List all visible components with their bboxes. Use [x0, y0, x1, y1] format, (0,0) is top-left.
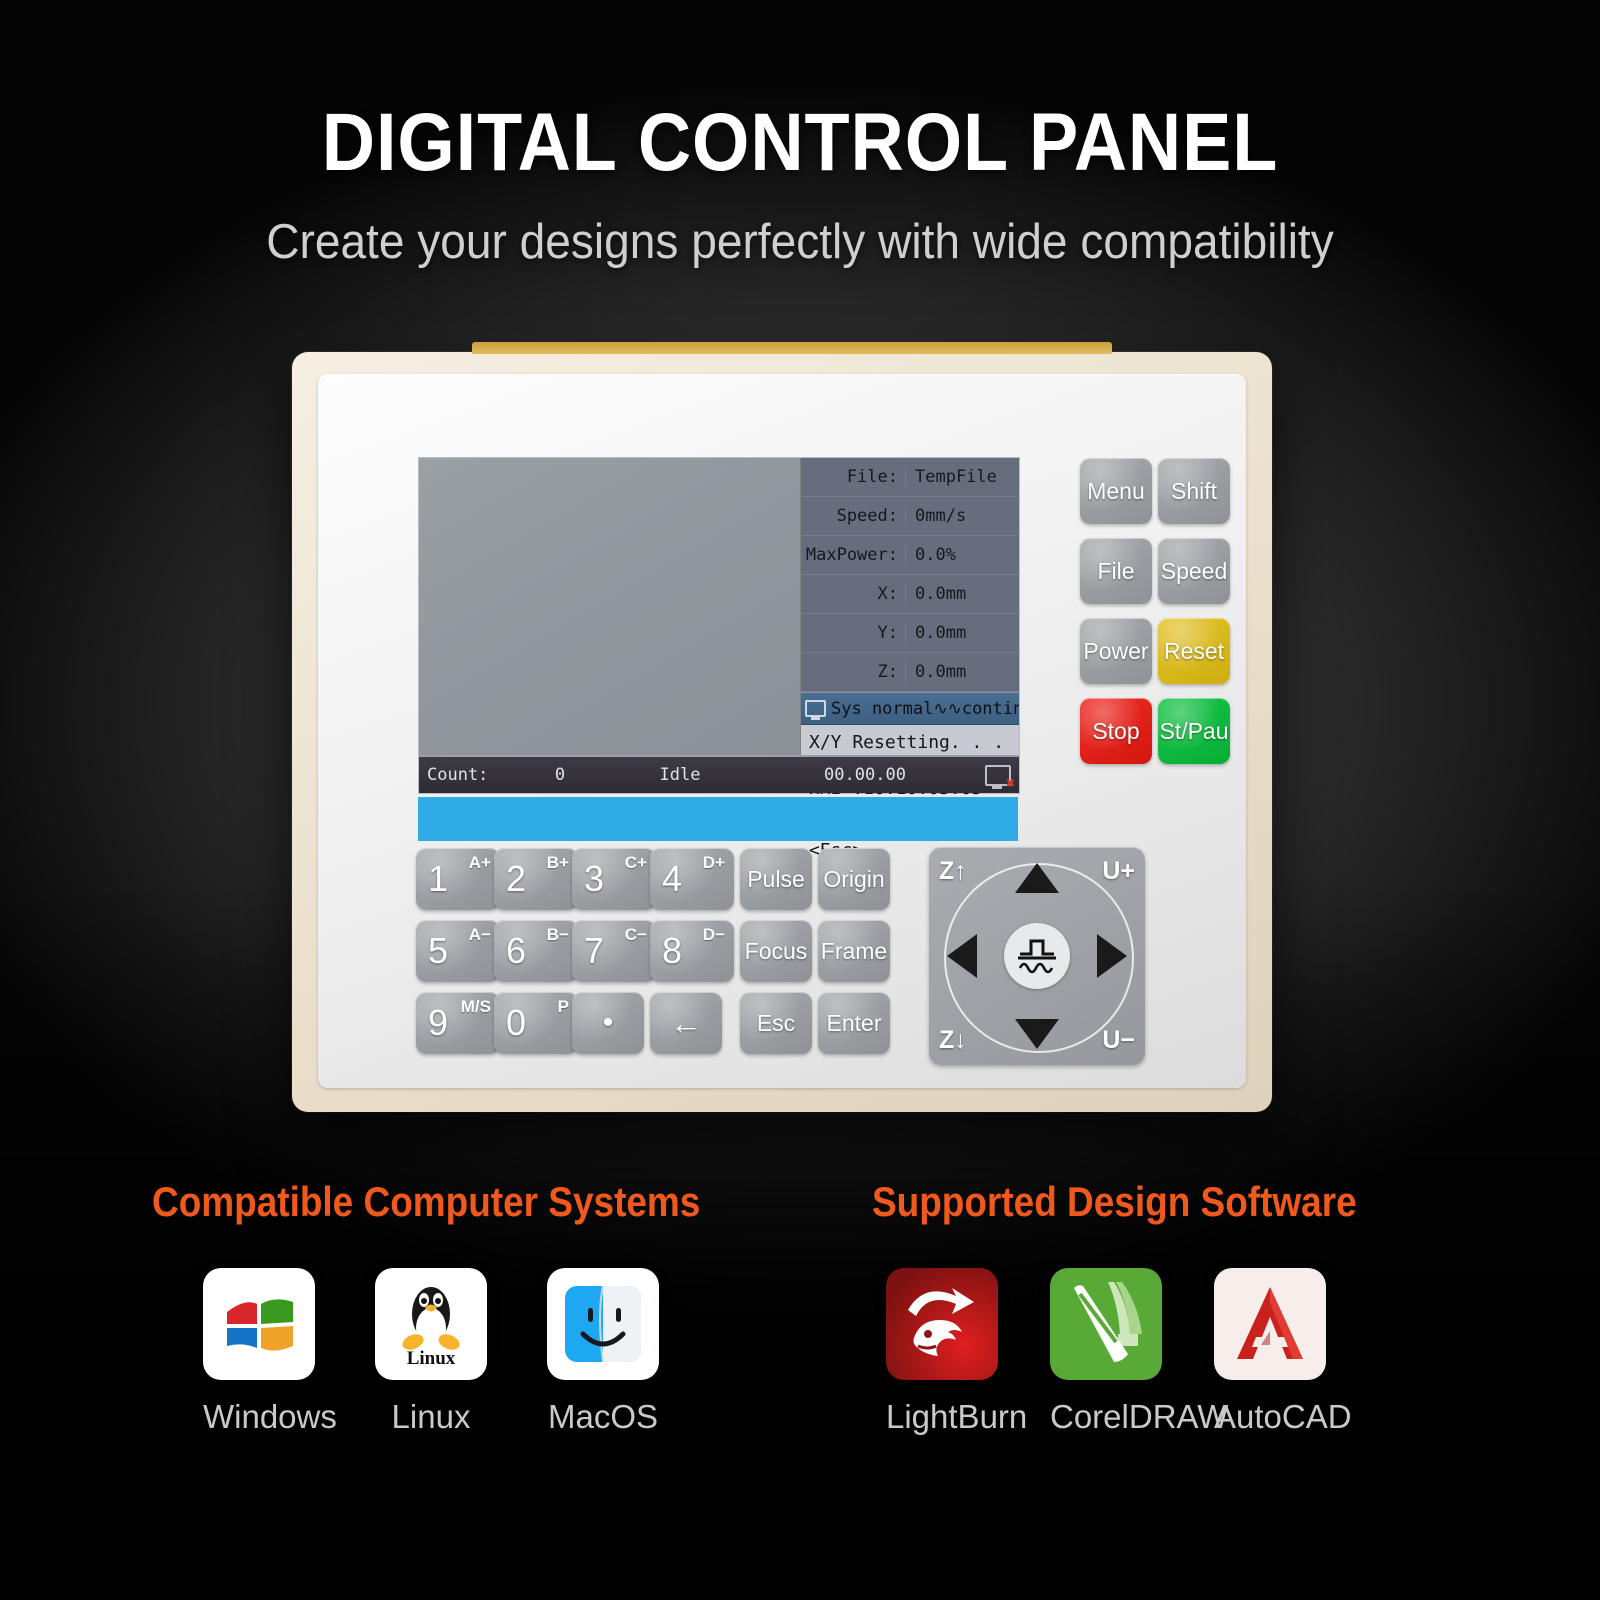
key-shift-label: C−: [625, 925, 647, 945]
elapsed-time: 00.00.00: [745, 765, 985, 785]
key-label: Focus: [745, 938, 808, 965]
pulse-button[interactable]: Pulse: [740, 848, 812, 910]
table-row: MaxPower: 0.0%: [801, 536, 1019, 575]
lcd-status-bar: Count: 0 Idle 00.00.00 ✖: [419, 755, 1019, 793]
info-key: X:: [801, 584, 905, 604]
list-item: Windows: [203, 1268, 315, 1436]
info-value: 0.0mm: [905, 623, 1019, 643]
list-item: AutoCAD: [1214, 1268, 1326, 1436]
table-row: Y: 0.0mm: [801, 614, 1019, 653]
key-label: 0: [506, 1002, 526, 1044]
focus-button[interactable]: Focus: [740, 920, 812, 982]
pulse-center-button[interactable]: [1004, 923, 1070, 989]
key-decimal-point[interactable]: •: [572, 992, 644, 1054]
key-label: 3: [584, 858, 604, 900]
info-value: 0mm/s: [905, 506, 1019, 526]
table-row: Speed: 0mm/s: [801, 497, 1019, 536]
key-label: Speed: [1161, 558, 1228, 585]
frame-button[interactable]: Frame: [818, 920, 890, 982]
key-5[interactable]: 5A−: [416, 920, 500, 982]
info-value: 0.0mm: [905, 662, 1019, 682]
list-item-label: AutoCAD: [1214, 1398, 1326, 1436]
key-label: Origin: [823, 866, 884, 893]
message-line: X/Y Resetting. . .: [809, 731, 1011, 754]
power-button[interactable]: Power: [1080, 618, 1152, 684]
table-row: Z: 0.0mm: [801, 653, 1019, 692]
key-label: Enter: [827, 1010, 882, 1037]
key-label: •: [603, 1006, 614, 1040]
connection-disconnected-icon: ✖: [985, 765, 1011, 786]
info-key: Speed:: [801, 506, 905, 526]
os-logo-list: Windows Linux Linux: [203, 1268, 659, 1436]
key-label: Stop: [1092, 718, 1139, 745]
lcd-preview-canvas: [419, 458, 801, 755]
z-up-button[interactable]: Z↑: [939, 857, 967, 886]
key-backspace[interactable]: ←: [650, 992, 722, 1054]
key-label: Menu: [1087, 478, 1145, 505]
table-row: File: TempFile: [801, 458, 1019, 497]
u-plus-button[interactable]: U+: [1102, 857, 1135, 886]
info-value: TempFile: [905, 467, 1019, 487]
arrow-down-icon[interactable]: [1015, 1019, 1059, 1049]
key-6[interactable]: 6B−: [494, 920, 578, 982]
start-pause-button[interactable]: St/Pau: [1158, 698, 1230, 764]
key-label: 1: [428, 858, 448, 900]
info-key: Z:: [801, 662, 905, 682]
key-label: 7: [584, 930, 604, 972]
speed-button[interactable]: Speed: [1158, 538, 1230, 604]
svg-text:Linux: Linux: [407, 1348, 456, 1368]
key-label: St/Pau: [1159, 718, 1228, 745]
lightburn-icon: [886, 1268, 998, 1380]
key-shift-label: P: [558, 997, 569, 1017]
key-label: Reset: [1164, 638, 1224, 665]
list-item: LightBurn: [886, 1268, 998, 1436]
key-0[interactable]: 0P: [494, 992, 578, 1054]
device-front-face: File: TempFile Speed: 0mm/s MaxPower: 0.…: [318, 374, 1246, 1088]
key-label: Frame: [821, 938, 887, 965]
arrow-right-icon[interactable]: [1097, 934, 1127, 978]
key-label: Esc: [757, 1010, 795, 1037]
key-3[interactable]: 3C+: [572, 848, 656, 910]
job-info-table: File: TempFile Speed: 0mm/s MaxPower: 0.…: [801, 458, 1019, 692]
key-7[interactable]: 7C−: [572, 920, 656, 982]
menu-button[interactable]: Menu: [1080, 458, 1152, 524]
list-item-label: LightBurn: [886, 1398, 998, 1436]
key-label: File: [1097, 558, 1134, 585]
control-panel-device: File: TempFile Speed: 0mm/s MaxPower: 0.…: [292, 352, 1272, 1112]
z-down-button[interactable]: Z↓: [939, 1026, 967, 1055]
key-shift-label: M/S: [461, 997, 491, 1017]
info-key: File:: [801, 467, 905, 487]
u-minus-button[interactable]: U−: [1102, 1026, 1135, 1055]
arrow-up-icon[interactable]: [1015, 863, 1059, 893]
count-value: 0: [505, 765, 615, 785]
info-value: 0.0mm: [905, 584, 1019, 604]
key-label: 4: [662, 858, 682, 900]
key-8[interactable]: 8D−: [650, 920, 734, 982]
shift-button[interactable]: Shift: [1158, 458, 1230, 524]
file-button[interactable]: File: [1080, 538, 1152, 604]
key-label: Pulse: [747, 866, 805, 893]
lcd-message-area: X/Y Resetting. . . RDC-V15.01.35 HMI-V10…: [801, 725, 1019, 755]
key-shift-label: A−: [469, 925, 491, 945]
list-item: MacOS: [547, 1268, 659, 1436]
monitor-icon: [805, 700, 826, 717]
list-item-label: MacOS: [547, 1398, 659, 1436]
info-value: 0.0%: [905, 545, 1019, 565]
key-label: 2: [506, 858, 526, 900]
promo-banner: DIGITAL CONTROL PANEL Create your design…: [0, 0, 1600, 1600]
header: DIGITAL CONTROL PANEL Create your design…: [0, 96, 1600, 270]
page-title: DIGITAL CONTROL PANEL: [80, 96, 1520, 190]
key-label: 9: [428, 1002, 448, 1044]
decorative-blue-strip: [418, 797, 1018, 841]
windows-icon: [203, 1268, 315, 1380]
key-1[interactable]: 1A+: [416, 848, 500, 910]
info-key: Y:: [801, 623, 905, 643]
arrow-left-icon[interactable]: [947, 934, 977, 978]
system-status-bar: Sys normal∿∿continue: [801, 692, 1019, 725]
list-item-label: CorelDRAW: [1050, 1398, 1162, 1436]
key-4[interactable]: 4D+: [650, 848, 734, 910]
page-subtitle: Create your designs perfectly with wide …: [48, 214, 1552, 270]
info-key: MaxPower:: [801, 545, 905, 565]
list-item: CorelDRAW: [1050, 1268, 1162, 1436]
software-section-title: Supported Design Software: [872, 1178, 1357, 1226]
jog-directional-pad[interactable]: Z↑ Z↓ U+ U−: [929, 847, 1145, 1065]
stop-button[interactable]: Stop: [1080, 698, 1152, 764]
autocad-icon: [1214, 1268, 1326, 1380]
pulse-wave-icon: [1015, 936, 1059, 976]
esc-button[interactable]: Esc: [740, 992, 812, 1054]
enter-button[interactable]: Enter: [818, 992, 890, 1054]
key-shift-label: D−: [703, 925, 725, 945]
key-2[interactable]: 2B+: [494, 848, 578, 910]
key-label: 5: [428, 930, 448, 972]
reset-button[interactable]: Reset: [1158, 618, 1230, 684]
key-shift-label: B+: [547, 853, 569, 873]
key-shift-label: D+: [703, 853, 725, 873]
system-status-text: Sys normal∿∿continue: [831, 699, 1019, 719]
list-item: Linux Linux: [375, 1268, 487, 1436]
lcd-screen: File: TempFile Speed: 0mm/s MaxPower: 0.…: [418, 457, 1020, 794]
origin-button[interactable]: Origin: [818, 848, 890, 910]
machine-state: Idle: [615, 765, 745, 785]
software-logo-list: LightBurn CorelDRAW: [886, 1268, 1326, 1436]
count-label: Count:: [427, 765, 505, 785]
key-shift-label: A+: [469, 853, 491, 873]
table-row: X: 0.0mm: [801, 575, 1019, 614]
backspace-arrow-icon: ←: [670, 1005, 702, 1042]
systems-section-title: Compatible Computer Systems: [152, 1178, 700, 1226]
key-label: 6: [506, 930, 526, 972]
key-shift-label: C+: [625, 853, 647, 873]
key-label: Power: [1083, 638, 1148, 665]
lcd-info-column: File: TempFile Speed: 0mm/s MaxPower: 0.…: [801, 458, 1019, 755]
list-item-label: Windows: [203, 1398, 315, 1436]
macos-finder-icon: [547, 1268, 659, 1380]
linux-icon: Linux: [375, 1268, 487, 1380]
device-top-gold-strip: [472, 342, 1112, 354]
key-shift-label: B−: [547, 925, 569, 945]
key-label: Shift: [1171, 478, 1217, 505]
key-9[interactable]: 9M/S: [416, 992, 500, 1054]
key-label: 8: [662, 930, 682, 972]
list-item-label: Linux: [375, 1398, 487, 1436]
coreldraw-icon: [1050, 1268, 1162, 1380]
